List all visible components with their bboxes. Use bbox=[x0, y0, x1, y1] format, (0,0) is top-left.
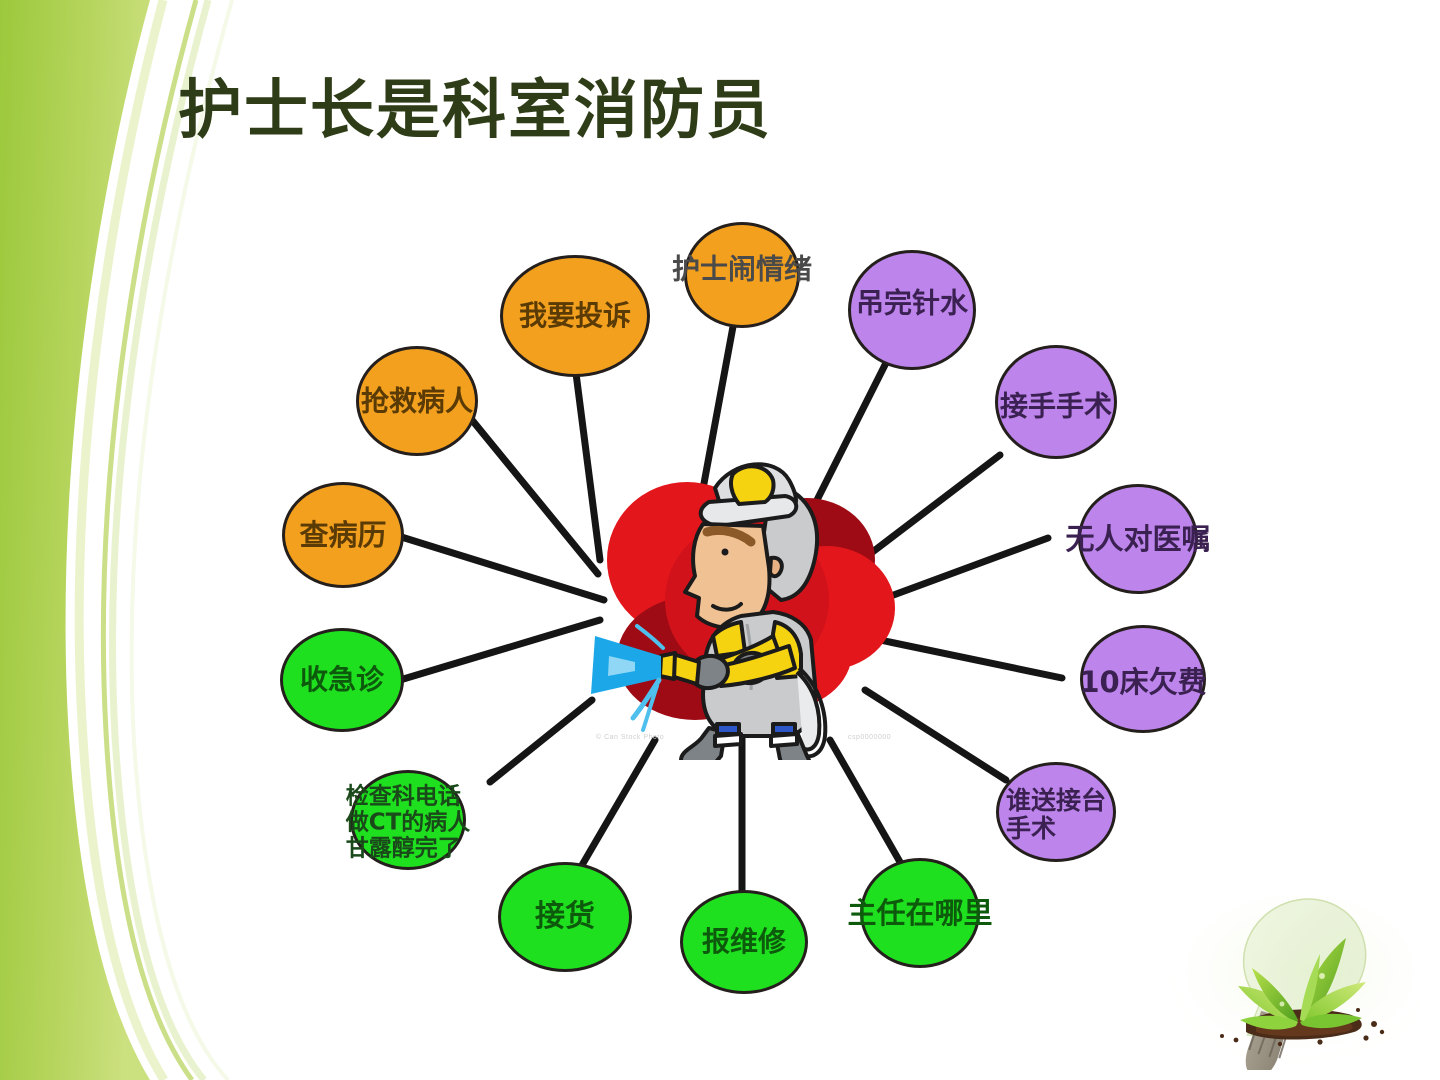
node-label: 护士闹情绪 bbox=[672, 253, 812, 284]
node-hushi-nao-qingxu[interactable]: 护士闹情绪 bbox=[684, 222, 800, 328]
node-label: 抢救病人 bbox=[361, 385, 473, 416]
node-label-line2: 做CT的病人 bbox=[346, 809, 471, 835]
node-label: 我要投诉 bbox=[519, 300, 631, 331]
node-shou-ji-zhen[interactable]: 收急诊 bbox=[280, 628, 404, 732]
node-label: 查病历 bbox=[299, 519, 386, 551]
spoke-line-n12 bbox=[400, 620, 600, 680]
node-label: 10床欠费 bbox=[1079, 666, 1206, 698]
spoke-line-n5 bbox=[880, 538, 1048, 600]
node-label: 检查科电话 做CT的病人 甘露醇完了 bbox=[346, 784, 471, 861]
node-label: 主任在哪里 bbox=[847, 897, 992, 929]
node-label: 报维修 bbox=[702, 926, 786, 957]
node-label-line1: 谁送接台 bbox=[1006, 786, 1106, 815]
spoke-line-n6 bbox=[880, 640, 1062, 678]
node-jiancha-ke-dianhua[interactable]: 检查科电话 做CT的病人 甘露醇完了 bbox=[350, 770, 466, 870]
lightbulb-plant-icon bbox=[1160, 890, 1420, 1070]
node-label: 收急诊 bbox=[300, 664, 384, 695]
node-label-line3: 甘露醇完了 bbox=[346, 835, 461, 861]
node-label: 吊完针水 bbox=[856, 287, 968, 318]
node-shui-song-jie-tai-shou-shu[interactable]: 谁送接台 手术 bbox=[996, 762, 1116, 862]
firefighter-illustration bbox=[575, 440, 905, 760]
node-cha-bing-li[interactable]: 查病历 bbox=[282, 482, 404, 588]
node-zhuren-zai-nali[interactable]: 主任在哪里 bbox=[860, 858, 980, 968]
node-label: 无人对医嘱 bbox=[1065, 523, 1210, 555]
node-jie-huo[interactable]: 接货 bbox=[498, 862, 632, 972]
slide-canvas: 护士长是科室消防员 bbox=[0, 0, 1440, 1080]
node-wu-ren-dui-yi-zhu[interactable]: 无人对医嘱 bbox=[1078, 484, 1198, 594]
node-label: 谁送接台 手术 bbox=[1006, 787, 1106, 843]
node-label: 接货 bbox=[535, 900, 595, 934]
watermark-left: © Can Stock Photo bbox=[596, 734, 664, 741]
node-bao-wei-xiu[interactable]: 报维修 bbox=[680, 890, 808, 994]
node-wo-yao-tou-su[interactable]: 我要投诉 bbox=[500, 255, 650, 377]
node-label: 接手手术 bbox=[1000, 390, 1112, 421]
node-diao-wan-zhen-shui[interactable]: 吊完针水 bbox=[848, 250, 976, 370]
node-label-line2: 手术 bbox=[1006, 814, 1056, 843]
watermark-right: csp0000000 bbox=[848, 734, 891, 741]
node-10-chuang-qian-fei[interactable]: 10床欠费 bbox=[1080, 625, 1206, 733]
node-label-line1: 检查科电话 bbox=[346, 783, 461, 809]
node-jie-shou-shou-shu[interactable]: 接手手术 bbox=[995, 345, 1117, 459]
node-qiang-jiu-bing-ren[interactable]: 抢救病人 bbox=[356, 346, 478, 456]
